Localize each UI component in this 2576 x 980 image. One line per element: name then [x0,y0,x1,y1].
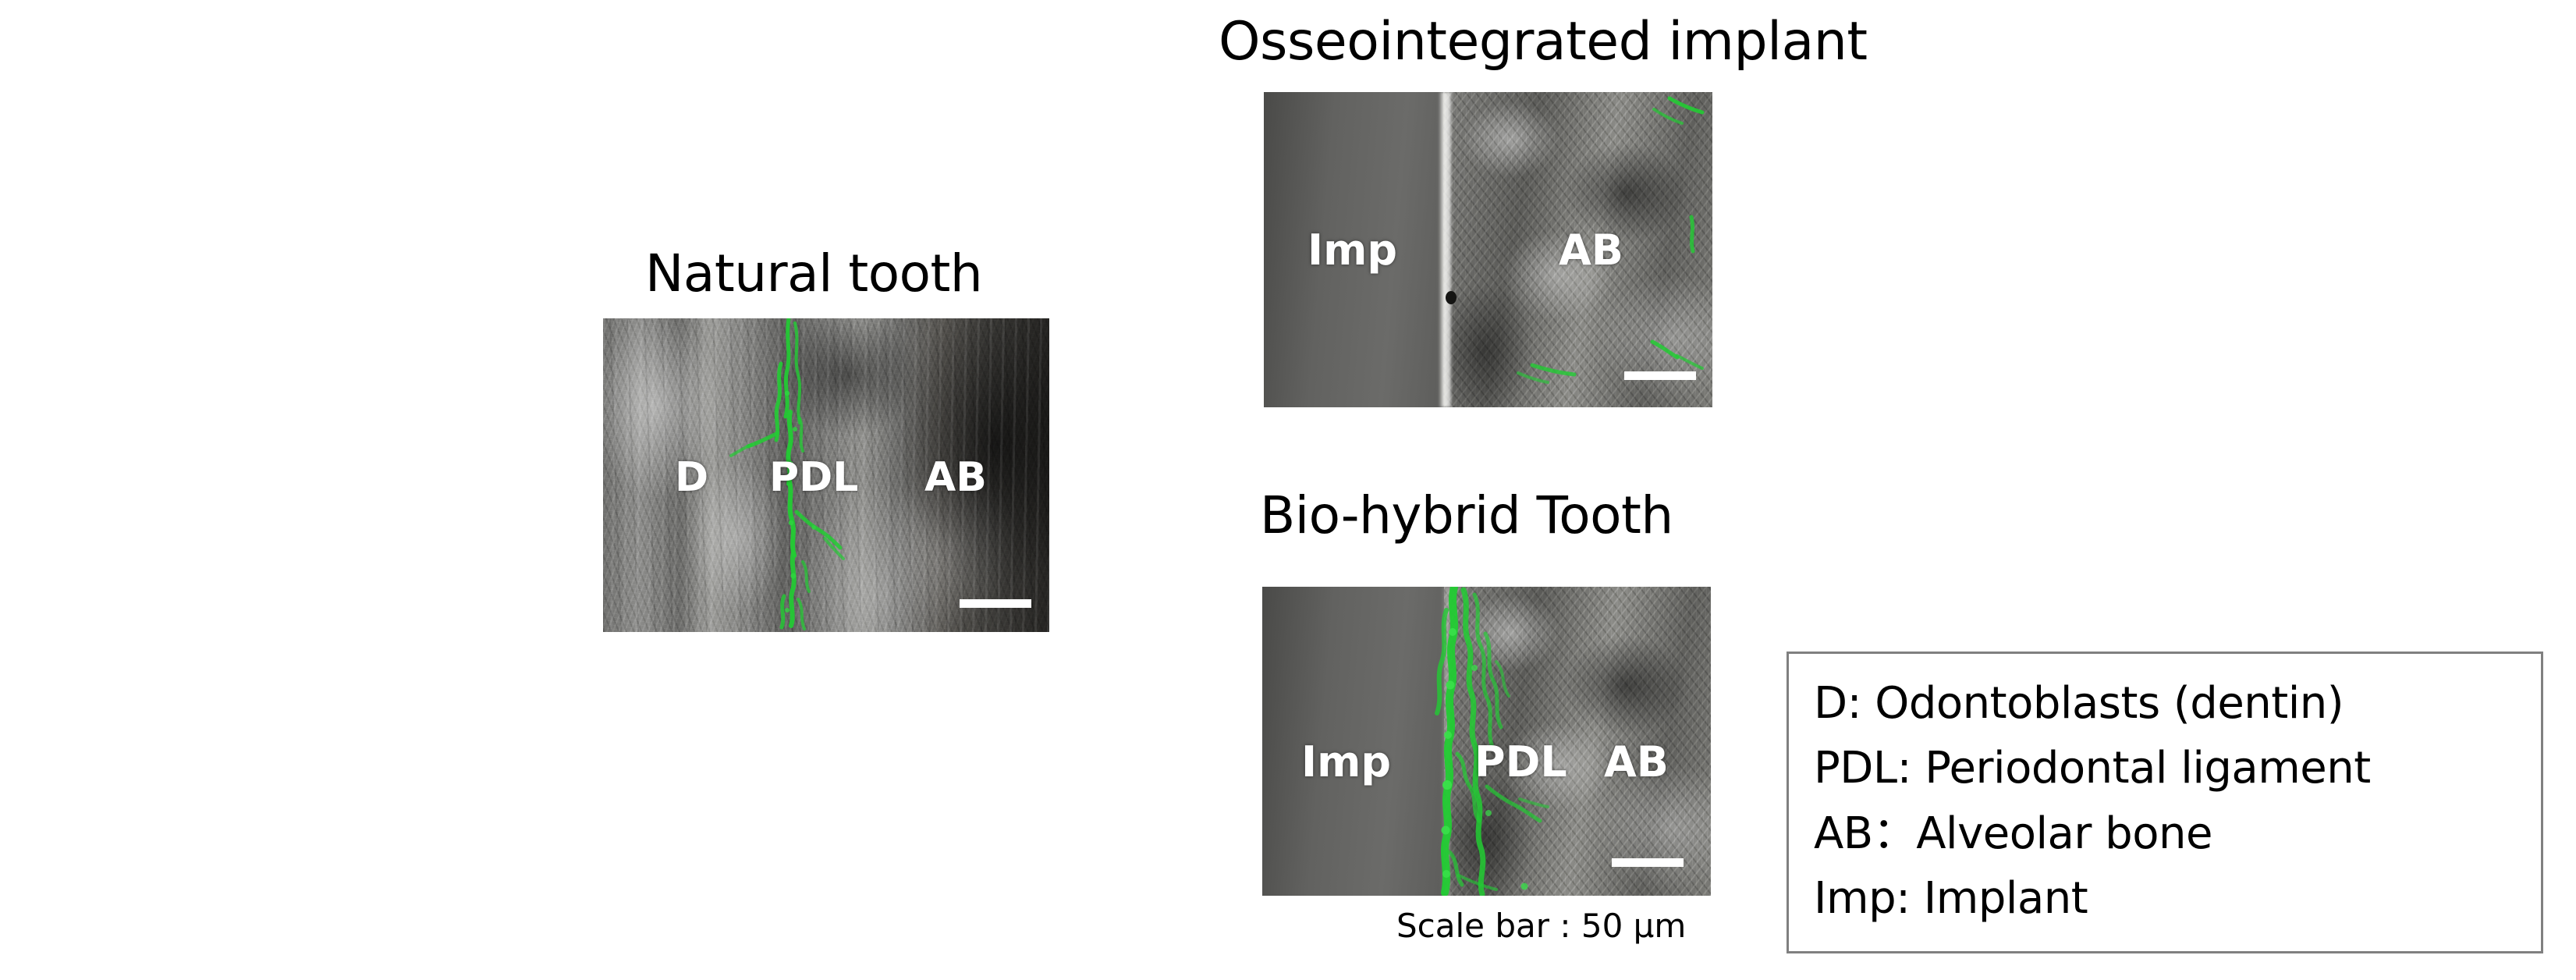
scale-bar-natural-tooth [960,599,1031,608]
panel-title-osseointegrated-implant: Osseointegrated implant [1219,11,1868,73]
label-implant: Imp [1301,741,1391,783]
label-pdl: PDL [1474,741,1567,783]
scale-bar-bio-hybrid-tooth [1612,858,1684,867]
label-implant: Imp [1308,229,1397,272]
label-ab: AB [924,457,987,498]
legend-item-implant: Imp: Implant [1814,866,2541,931]
micrograph-osseointegrated-implant: Imp AB [1264,92,1712,407]
label-ab: AB [1559,229,1623,272]
legend-item-dentin: D: Odontoblasts (dentin) [1814,671,2541,736]
abbreviation-legend-box: D: Odontoblasts (dentin) PDL: Periodonta… [1787,652,2543,953]
label-ab: AB [1604,741,1669,783]
scale-bar-osseointegrated-implant [1624,371,1696,380]
micrograph-natural-tooth: D PDL AB [603,318,1049,632]
panel-title-natural-tooth: Natural tooth [645,243,982,304]
legend-item-pdl: PDL: Periodontal ligament [1814,736,2541,801]
implant-pdl-interface [1442,587,1449,896]
implant-bone-interface [1439,92,1451,407]
legend-item-alveolar-bone: AB：Alveolar bone [1814,801,2541,866]
label-dentin: D [675,457,708,498]
label-pdl: PDL [769,457,858,498]
interface-pore [1446,291,1457,304]
panel-title-bio-hybrid-tooth: Bio-hybrid Tooth [1260,485,1673,545]
scale-bar-caption: Scale bar : 50 μm [1396,907,1686,945]
figure-root: Natural tooth Osseointegrated implant Bi… [0,0,2576,980]
micrograph-bio-hybrid-tooth: Imp PDL AB [1262,587,1711,896]
